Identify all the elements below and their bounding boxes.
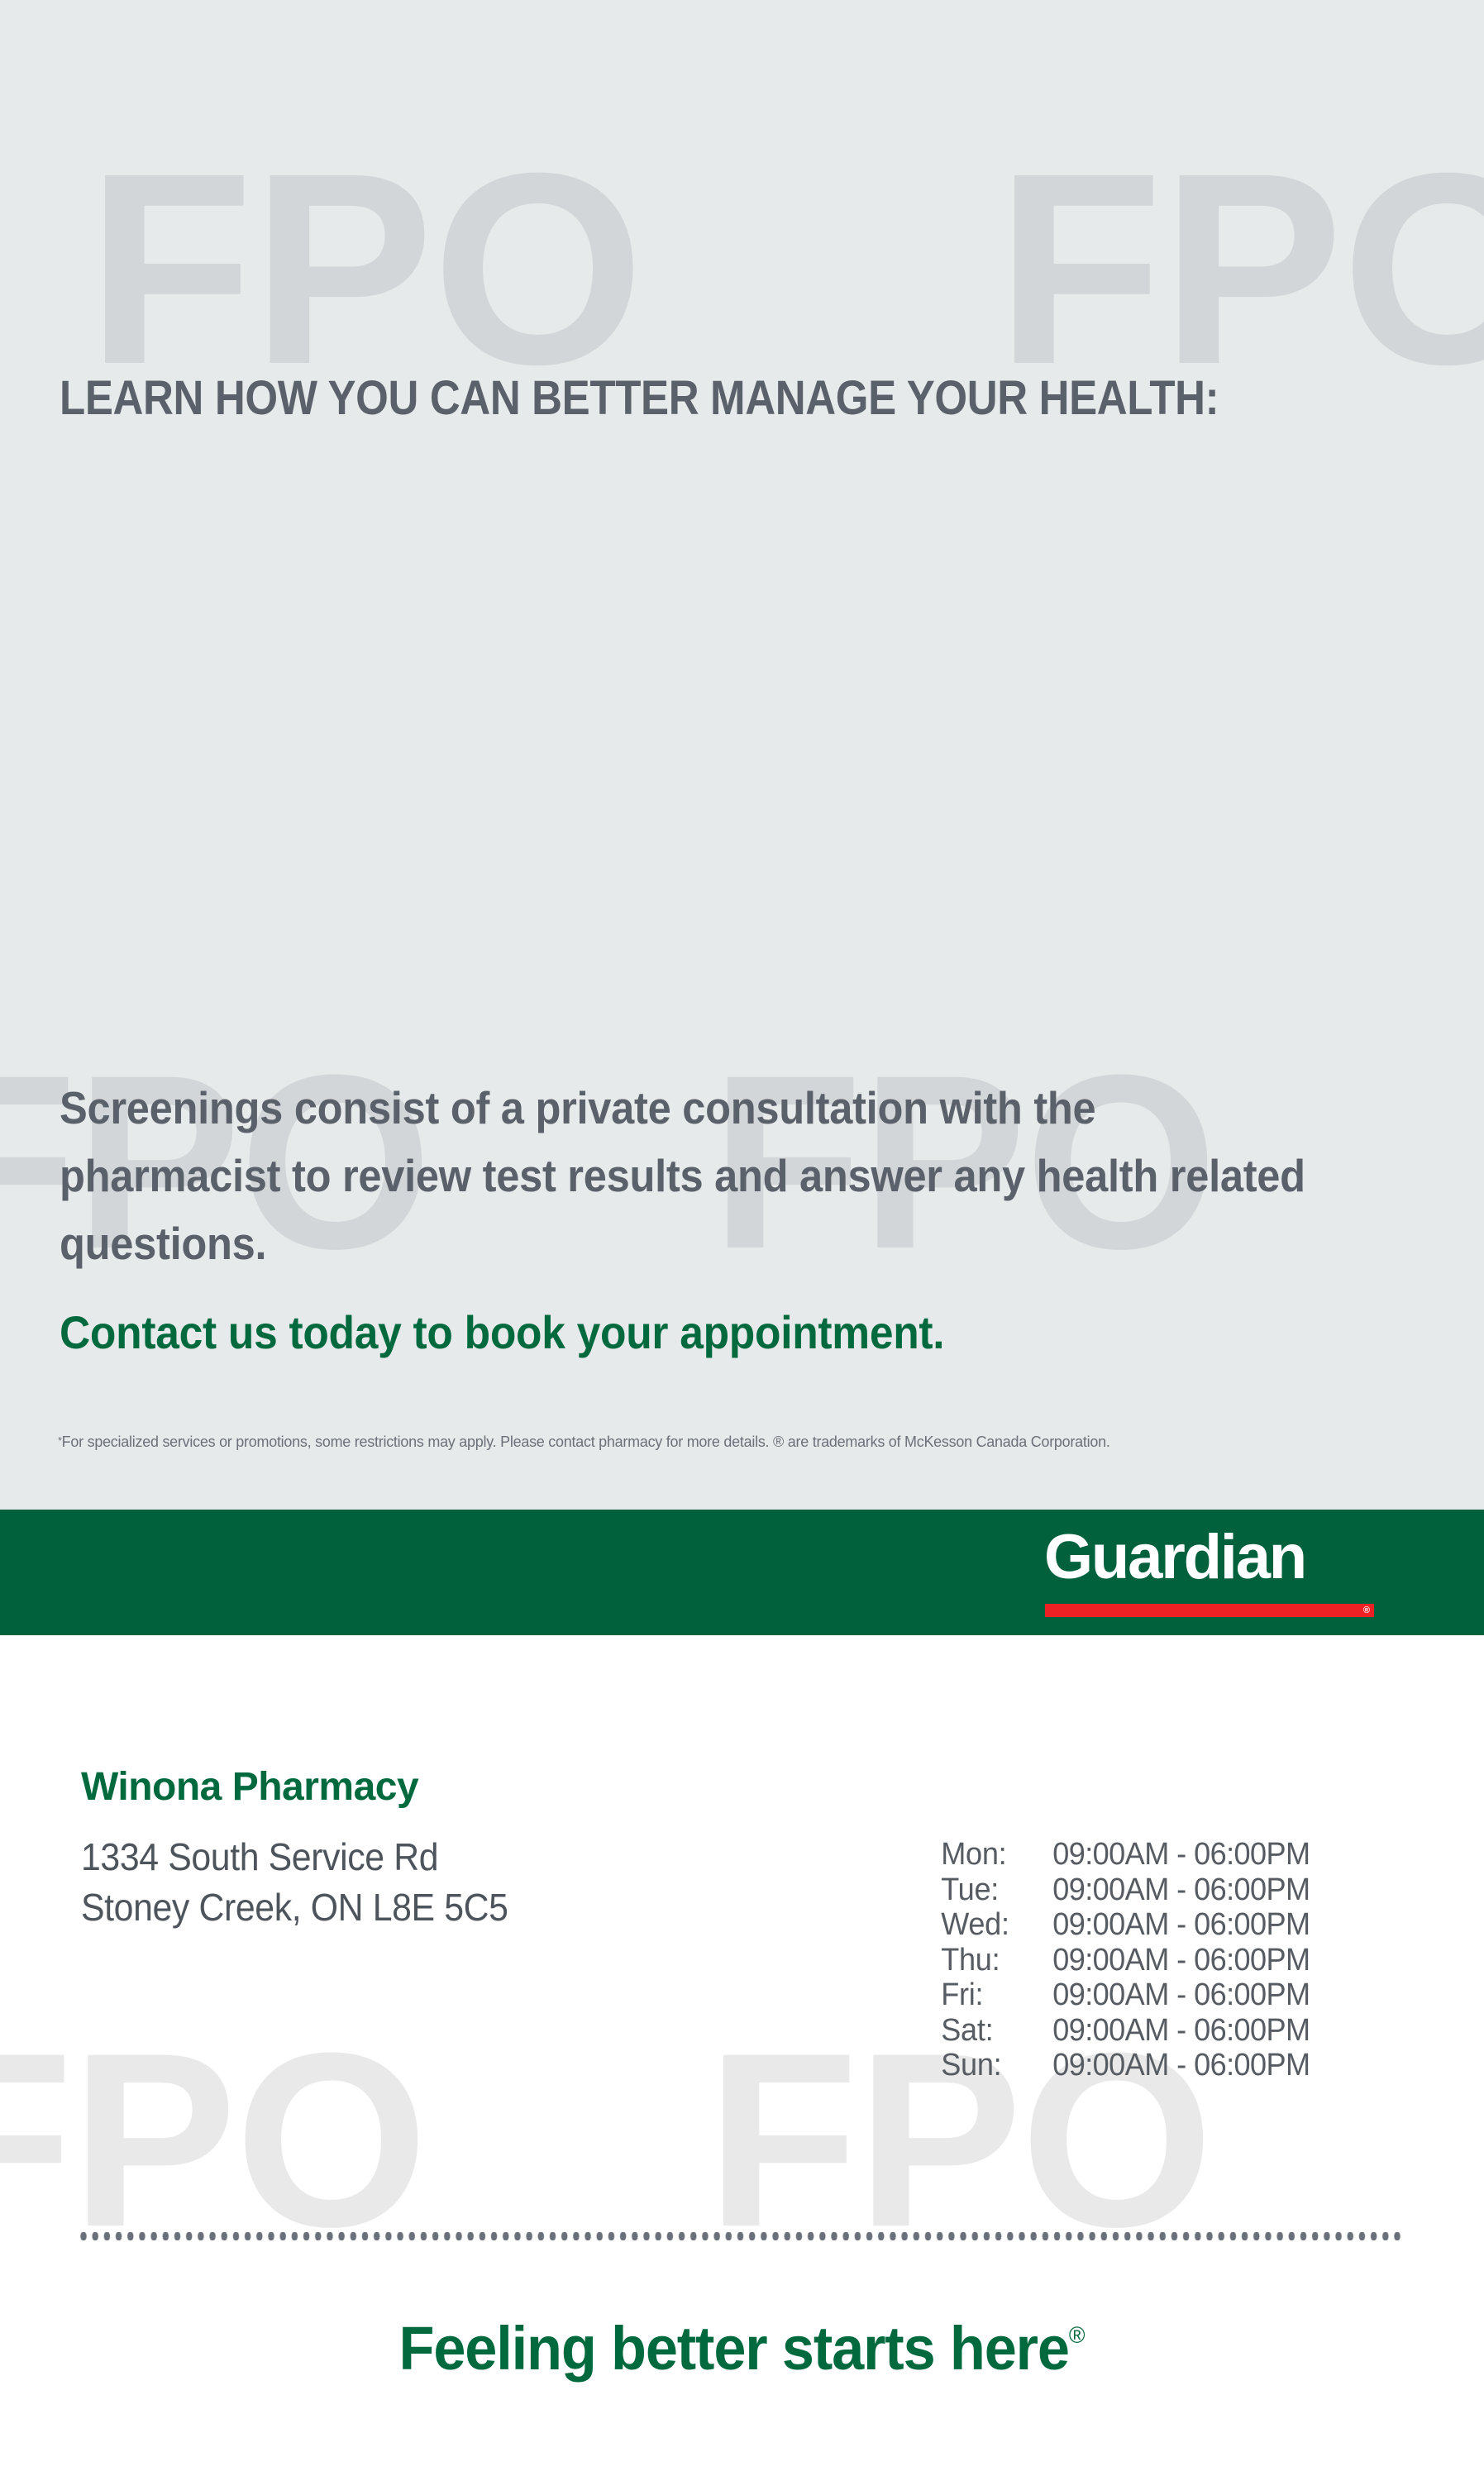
hours-day-label: Sat: — [941, 2013, 1043, 2049]
hours-time-value: 09:00AM - 06:00PM — [1052, 1873, 1310, 1908]
store-hours-table: Mon: 09:00AM - 06:00PM Tue: 09:00AM - 06… — [938, 1837, 1317, 2083]
registered-mark-icon: ® — [1069, 2322, 1086, 2348]
guardian-wordmark: Guardian — [1044, 1526, 1375, 1589]
hours-row: Sun: 09:00AM - 06:00PM — [938, 2048, 1317, 2083]
brand-band: Guardian ® — [0, 1510, 1484, 1635]
hours-day-label: Wed: — [941, 1907, 1043, 1943]
call-to-action-text: Contact us today to book your appointmen… — [60, 1305, 1307, 1360]
hours-time-value: 09:00AM - 06:00PM — [1052, 1943, 1310, 1978]
hours-row: Tue: 09:00AM - 06:00PM — [938, 1873, 1317, 1908]
hours-row: Wed: 09:00AM - 06:00PM — [938, 1907, 1317, 1943]
body-paragraph: Screenings consist of a private consulta… — [60, 1075, 1307, 1278]
hours-day-label: Fri: — [941, 1977, 1043, 2013]
address-line-2: Stoney Creek, ON L8E 5C5 — [81, 1882, 508, 1933]
registered-mark-icon: ® — [1363, 1604, 1370, 1617]
tagline-text: Feeling better starts here — [399, 2314, 1069, 2383]
hours-time-value: 09:00AM - 06:00PM — [1052, 1977, 1310, 2013]
fpo-watermark: FPO — [0, 2016, 427, 2264]
flyer-page: FPO FPO FPO FPO LEARN HOW YOU CAN BETTER… — [0, 0, 1484, 2476]
hours-row: Mon: 09:00AM - 06:00PM — [938, 1837, 1317, 1873]
dotted-divider — [79, 2232, 1404, 2240]
hours-day-label: Sun: — [941, 2048, 1043, 2083]
fpo-watermark: FPO — [87, 132, 642, 405]
hours-time-value: 09:00AM - 06:00PM — [1052, 1907, 1310, 1943]
hours-day-label: Tue: — [941, 1873, 1043, 1908]
hours-time-value: 09:00AM - 06:00PM — [1052, 1837, 1310, 1873]
guardian-logo: Guardian ® — [1044, 1528, 1375, 1617]
store-address: 1334 South Service Rd Stoney Creek, ON L… — [81, 1832, 508, 1932]
hours-time-value: 09:00AM - 06:00PM — [1052, 2013, 1310, 2049]
hours-day-label: Mon: — [941, 1837, 1043, 1873]
headline: LEARN HOW YOU CAN BETTER MANAGE YOUR HEA… — [60, 374, 1281, 424]
hero-panel: FPO FPO FPO FPO — [0, 0, 1484, 1510]
hours-row: Fri: 09:00AM - 06:00PM — [938, 1977, 1317, 2013]
disclaimer-body: For specialized services or promotions, … — [62, 1433, 1110, 1450]
store-name: Winona Pharmacy — [81, 1764, 418, 1810]
guardian-red-underline: ® — [1045, 1604, 1374, 1617]
fpo-watermark: FPO — [996, 132, 1484, 405]
hours-time-value: 09:00AM - 06:00PM — [1052, 2048, 1310, 2083]
hours-row: Thu: 09:00AM - 06:00PM — [938, 1943, 1317, 1978]
hours-day-label: Thu: — [941, 1943, 1043, 1978]
hours-row: Sat: 09:00AM - 06:00PM — [938, 2013, 1317, 2049]
disclaimer-text: *For specialized services or promotions,… — [58, 1433, 1421, 1451]
address-line-1: 1334 South Service Rd — [81, 1832, 508, 1882]
brand-tagline: Feeling better starts here® — [37, 2313, 1447, 2383]
